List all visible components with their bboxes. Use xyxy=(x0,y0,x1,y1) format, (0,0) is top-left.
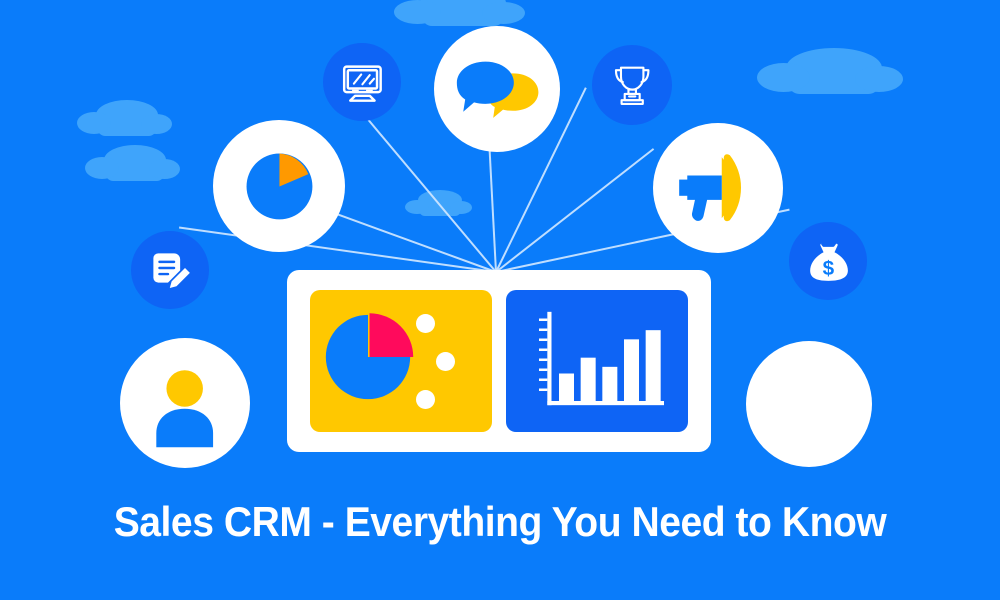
cloud-lump xyxy=(855,66,903,92)
cloud-lump xyxy=(394,0,441,24)
cloud-lump xyxy=(482,2,525,24)
globe-icon[interactable] xyxy=(746,341,872,467)
page-title: Sales CRM - Everything You Need to Know xyxy=(35,498,965,546)
chat-icon-glyph xyxy=(448,40,546,138)
money-bag-icon[interactable]: $ xyxy=(789,222,867,300)
crm-dashboard[interactable] xyxy=(287,270,711,452)
document-edit-icon[interactable] xyxy=(131,231,209,309)
cloud-lump xyxy=(149,159,180,179)
trophy-icon[interactable] xyxy=(592,45,672,125)
cloud-lump xyxy=(141,114,172,134)
cloud-left-lower xyxy=(104,145,166,175)
panel-pie-chart xyxy=(322,311,414,403)
pie-chart-icon[interactable] xyxy=(213,120,345,252)
document-edit-icon-glyph xyxy=(140,240,201,301)
pie-chart-panel[interactable] xyxy=(310,290,492,432)
svg-text:$: $ xyxy=(822,256,834,279)
panel-bar-chart xyxy=(524,306,674,416)
pie-chart-icon-glyph xyxy=(228,135,331,238)
cloud-lump xyxy=(757,63,810,92)
megaphone-icon[interactable] xyxy=(653,123,783,253)
cloud-left-upper xyxy=(96,100,158,130)
panel-dot xyxy=(416,314,435,333)
monitor-icon[interactable] xyxy=(323,43,401,121)
user-avatar-icon-glyph xyxy=(134,352,235,453)
panel-dot xyxy=(436,352,455,371)
money-bag-icon-glyph: $ xyxy=(798,231,859,292)
cloud-lump xyxy=(85,157,119,179)
bar-chart-panel[interactable] xyxy=(506,290,688,432)
chat-icon[interactable] xyxy=(434,26,560,152)
panel-dot xyxy=(416,390,435,409)
cloud-lump xyxy=(450,201,472,214)
cloud-lump xyxy=(77,112,111,134)
cloud-top-center xyxy=(420,0,506,20)
user-avatar-icon[interactable] xyxy=(120,338,250,468)
cloud-top-right xyxy=(786,48,882,88)
cloud-lump xyxy=(405,200,429,214)
sales-crm-banner: $ xyxy=(0,0,1000,600)
trophy-icon-glyph xyxy=(601,54,663,116)
globe-icon-glyph xyxy=(760,355,858,453)
monitor-icon-glyph xyxy=(332,52,393,113)
megaphone-icon-glyph xyxy=(667,137,768,238)
